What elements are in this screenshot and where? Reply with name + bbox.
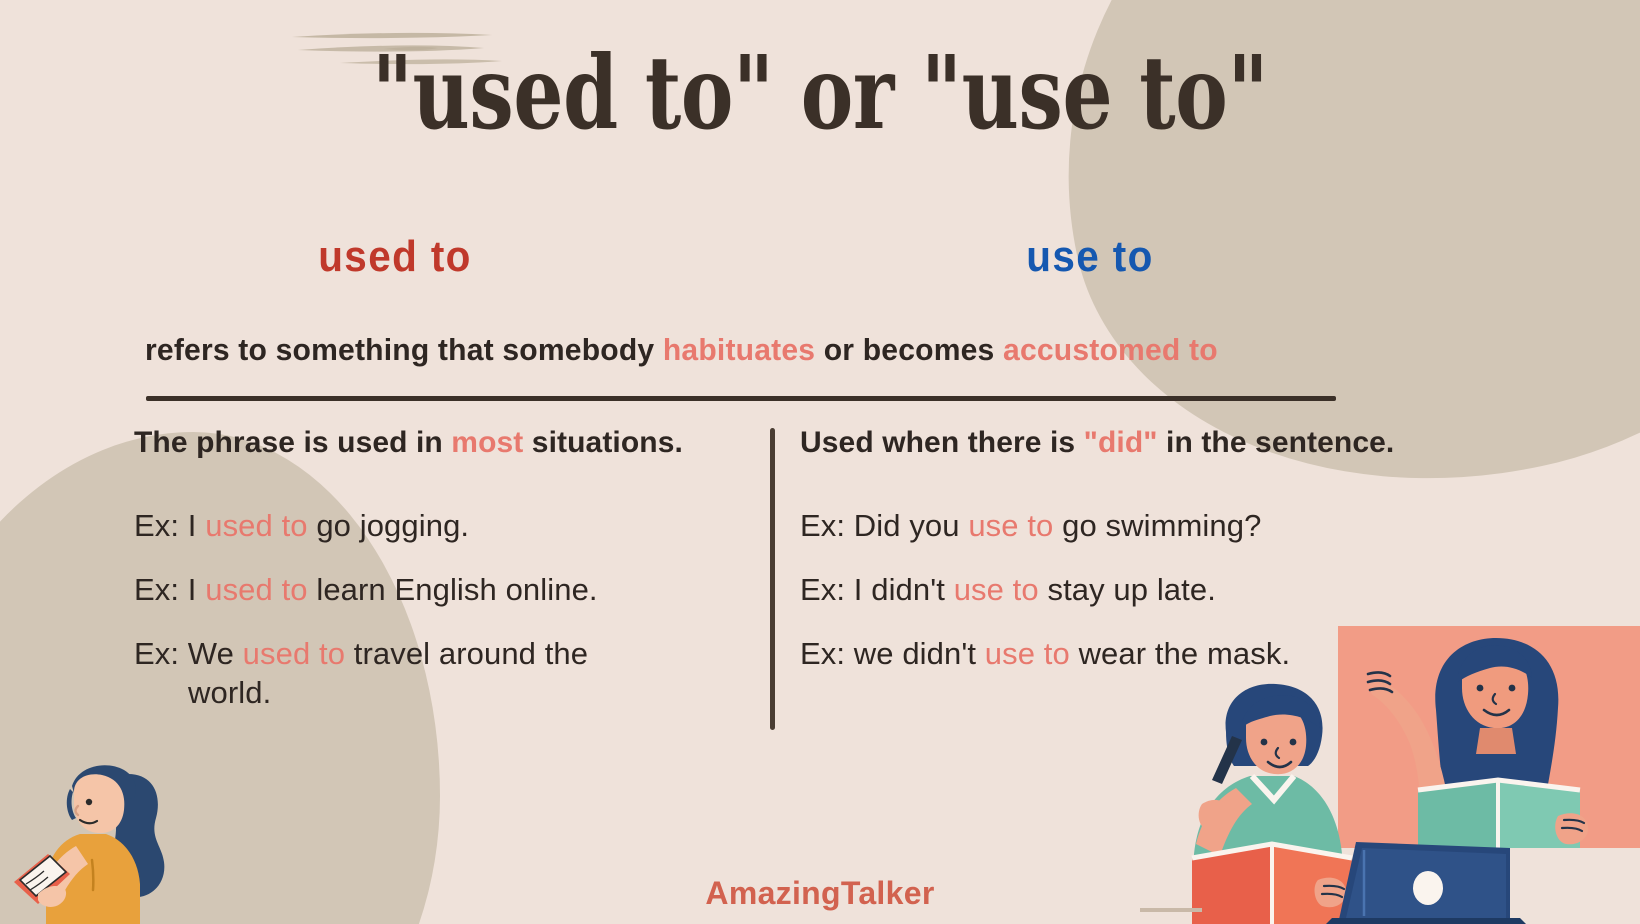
- example-highlight: use to: [985, 636, 1070, 671]
- example-pre: Ex: I: [134, 572, 205, 607]
- list-item: Ex: Did you use to go swimming?: [800, 506, 1480, 545]
- example-post: go jogging.: [308, 508, 470, 543]
- right-rule-highlight: "did": [1084, 426, 1158, 459]
- list-item: Ex: I used to go jogging.: [134, 506, 754, 545]
- left-rule-highlight: most: [451, 426, 523, 459]
- example-pre: Ex: I: [134, 508, 205, 543]
- vertical-divider: [770, 428, 775, 730]
- brand-logo-text: AmazingTalker: [0, 875, 1640, 912]
- column-heading-use-to: use to: [814, 232, 1366, 282]
- example-highlight: used to: [205, 572, 307, 607]
- right-column-rule: Used when there is "did" in the sentence…: [800, 426, 1480, 460]
- definition-pre: refers to something that somebody: [145, 332, 663, 367]
- example-pre: Ex: I didn't: [800, 572, 954, 607]
- page-title: "used to" or "use to": [180, 40, 1459, 146]
- horizontal-divider: [146, 396, 1336, 401]
- definition-highlight-accustomed: accustomed to: [1003, 332, 1218, 367]
- column-heading-used-to: used to: [32, 232, 759, 282]
- definition-mid: or becomes: [815, 332, 1003, 367]
- example-highlight: use to: [968, 508, 1053, 543]
- example-pre: Ex: We: [134, 636, 243, 671]
- right-rule-pre: Used when there is: [800, 426, 1084, 459]
- definition-line: refers to something that somebody habitu…: [145, 332, 1309, 368]
- left-rule-post: situations.: [523, 426, 683, 459]
- example-pre: Ex: we didn't: [800, 636, 985, 671]
- example-highlight: used to: [205, 508, 307, 543]
- infographic-canvas: "used to" or "use to" used to use to ref…: [0, 0, 1640, 924]
- example-post: learn English online.: [308, 572, 598, 607]
- right-rule-post: in the sentence.: [1158, 426, 1395, 459]
- example-highlight: use to: [954, 572, 1039, 607]
- left-column-rule: The phrase is used in most situations.: [134, 426, 754, 460]
- example-pre: Ex: Did you: [800, 508, 968, 543]
- definition-highlight-habituates: habituates: [663, 332, 815, 367]
- list-item: Ex: I used to learn English online.: [134, 570, 754, 609]
- example-post: stay up late.: [1039, 572, 1216, 607]
- list-item: Ex: We used to travel around theworld.: [134, 634, 754, 712]
- example-continuation: world.: [134, 673, 754, 712]
- example-post: travel around the: [345, 636, 588, 671]
- example-post: go swimming?: [1053, 508, 1261, 543]
- left-column: The phrase is used in most situations. E…: [134, 426, 754, 737]
- left-rule-pre: The phrase is used in: [134, 426, 451, 459]
- example-highlight: used to: [243, 636, 345, 671]
